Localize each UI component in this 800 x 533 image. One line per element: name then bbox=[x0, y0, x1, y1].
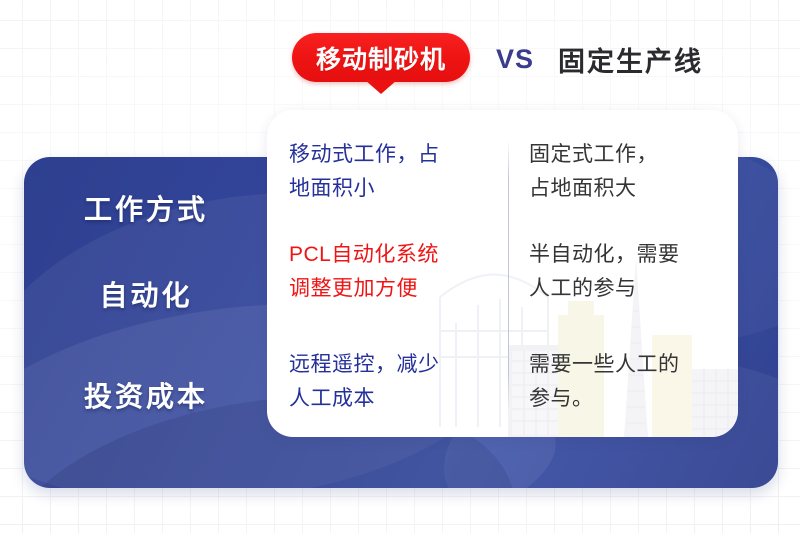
cell-mobile-automation: PCL自动化系统 调整更加方便 bbox=[289, 238, 494, 306]
header: 移动制砂机 VS 固定生产线 bbox=[0, 26, 800, 96]
badge-pointer-icon bbox=[365, 80, 397, 94]
cell-fixed-automation: 半自动化，需要 人工的参与 bbox=[529, 238, 729, 306]
column-divider bbox=[508, 140, 509, 412]
cell-fixed-work-method: 固定式工作， 占地面积大 bbox=[529, 138, 729, 206]
row-label-automation: 自动化 bbox=[24, 274, 268, 314]
row-label-investment-cost: 投资成本 bbox=[24, 375, 268, 415]
badge-pill: 移动制砂机 bbox=[292, 33, 470, 82]
row-label-work-method: 工作方式 bbox=[24, 188, 268, 228]
infographic-canvas: 移动制砂机 VS 固定生产线 工作方式 自动化 投资成本 bbox=[0, 0, 800, 533]
vs-label: VS bbox=[496, 44, 534, 75]
mobile-product-badge: 移动制砂机 bbox=[292, 33, 470, 82]
fixed-product-title: 固定生产线 bbox=[558, 40, 703, 79]
badge-label: 移动制砂机 bbox=[316, 40, 446, 76]
comparison-card: 移动式工作，占 地面积小 固定式工作， 占地面积大 PCL自动化系统 调整更加方… bbox=[267, 110, 738, 437]
cell-fixed-investment-cost: 需要一些人工的 参与。 bbox=[529, 348, 729, 416]
cell-mobile-work-method: 移动式工作，占 地面积小 bbox=[289, 138, 494, 206]
cell-mobile-investment-cost: 远程遥控，减少 人工成本 bbox=[289, 348, 494, 416]
